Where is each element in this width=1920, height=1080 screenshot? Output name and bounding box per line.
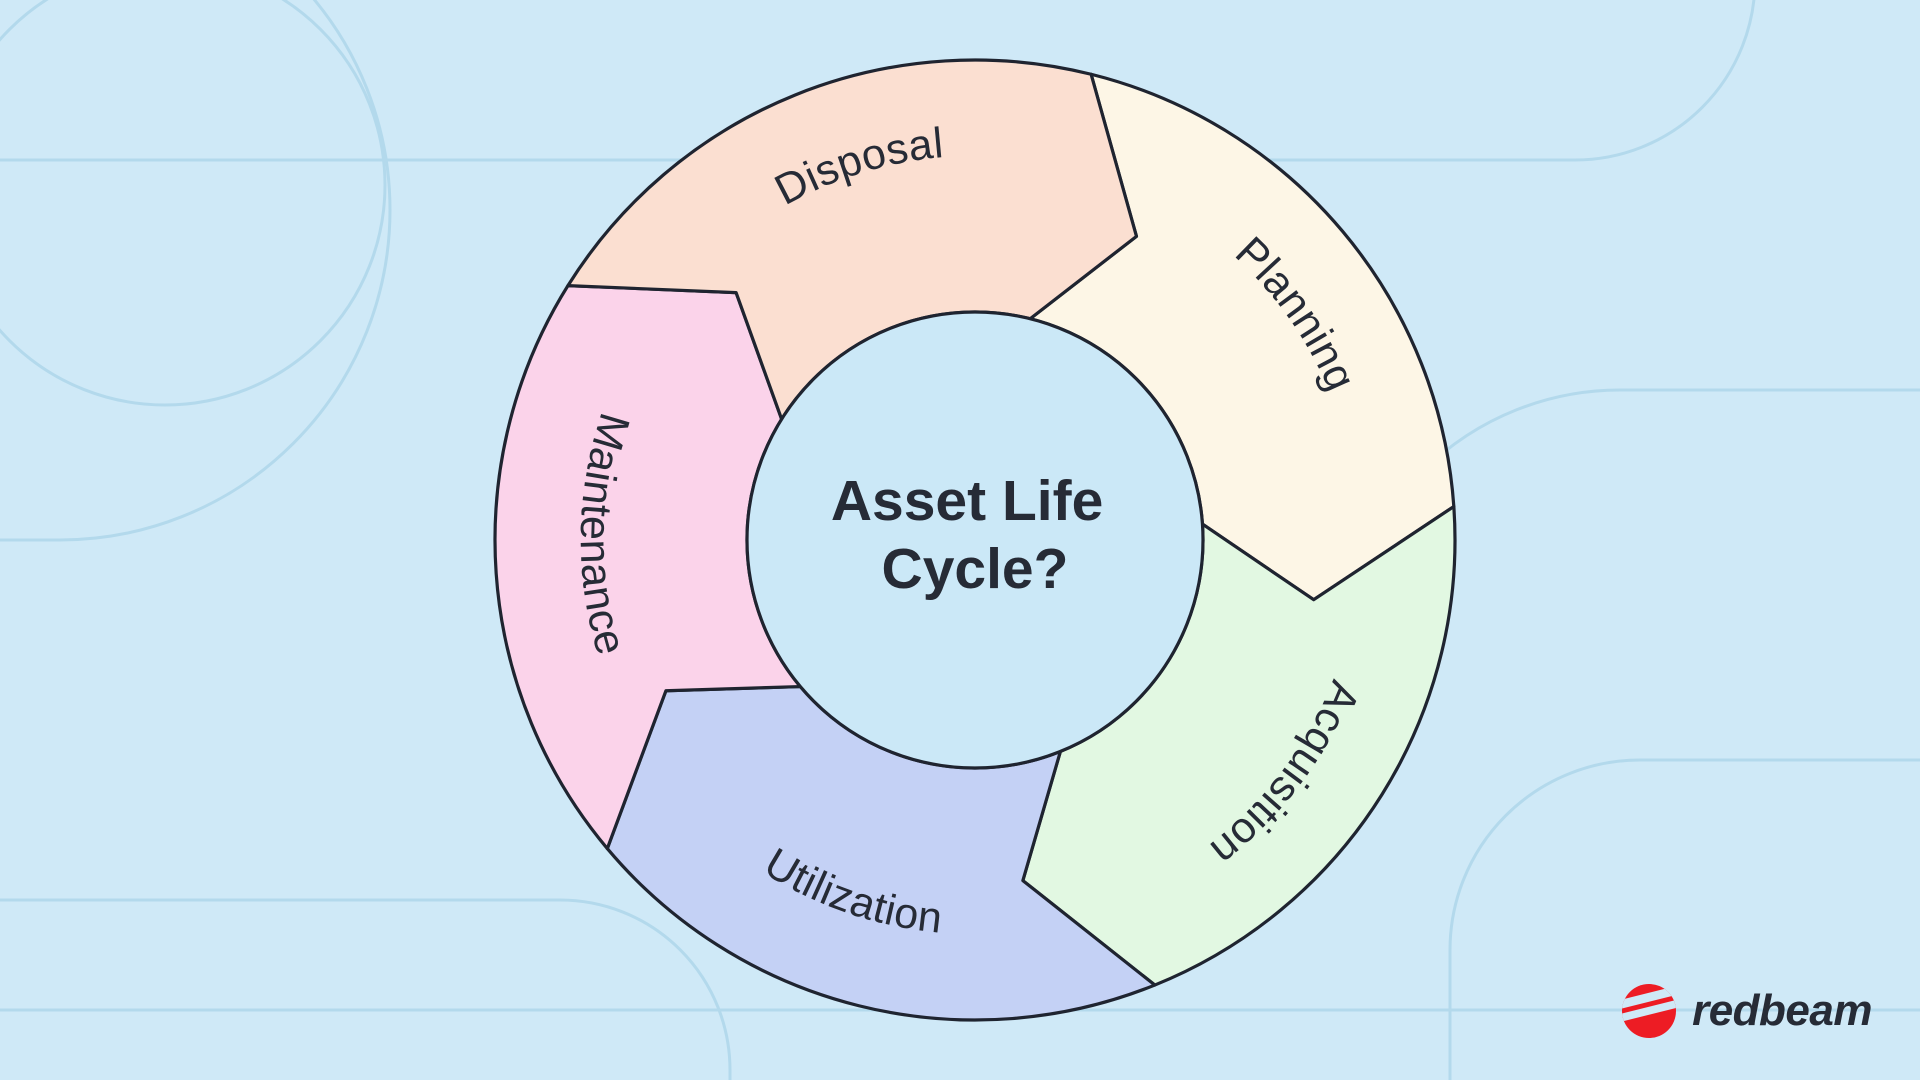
redbeam-logo[interactable]: redbeam (1620, 982, 1872, 1040)
hub-title-line1: Asset Life (831, 469, 1103, 533)
infographic-canvas: Asset Life Cycle? PlanningAcquisitionUti… (0, 0, 1920, 1080)
asset-life-cycle-wheel: Asset Life Cycle? PlanningAcquisitionUti… (0, 0, 1920, 1080)
redbeam-wordmark: redbeam (1692, 989, 1872, 1033)
hub-title-line2: Cycle? (882, 537, 1069, 601)
redbeam-circle-mark-icon (1620, 982, 1678, 1040)
